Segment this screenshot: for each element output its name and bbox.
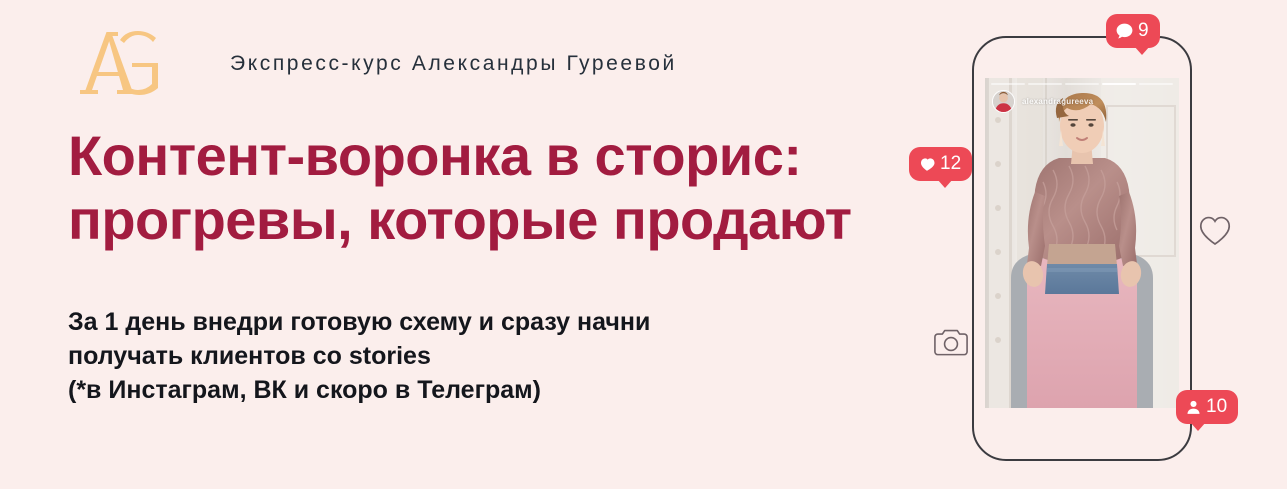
story-progress-segment	[1028, 83, 1062, 85]
course-kicker: Экспресс-курс Александры Гуреевой	[230, 52, 677, 76]
status-badge-followers: 10	[1176, 390, 1238, 424]
promo-banner: Экспресс-курс Александры Гуреевой Контен…	[0, 0, 1287, 489]
badge-count: 9	[1138, 21, 1149, 40]
story-progress-bars[interactable]	[991, 83, 1173, 85]
ag-monogram-icon	[70, 28, 162, 100]
story-progress-segment	[991, 83, 1025, 85]
subcopy-line-2: получать клиентов со stories	[68, 339, 868, 373]
page-title: Контент-воронка в сторис: прогревы, кото…	[68, 124, 968, 252]
comment-bubble-icon	[1115, 22, 1134, 41]
subcopy-line-3: (*в Инстаграм, ВК и скоро в Телеграм)	[68, 373, 868, 407]
story-progress-segment	[1102, 83, 1136, 85]
headline-line-1: Контент-воронка в сторис:	[68, 124, 968, 188]
badge-count: 10	[1206, 397, 1227, 416]
story-progress-segment	[1139, 83, 1173, 85]
headline-line-2: прогревы, которые продают	[68, 188, 968, 252]
badge-count: 12	[940, 154, 961, 173]
heart-filled-icon	[918, 155, 936, 173]
subheadline: За 1 день внедри готовую схему и сразу н…	[68, 305, 868, 407]
person-icon	[1185, 399, 1202, 416]
story-photo	[985, 78, 1179, 408]
banner-header: Экспресс-курс Александры Гуреевой	[70, 28, 677, 100]
avatar	[992, 90, 1015, 113]
status-badge-likes: 12	[909, 147, 972, 181]
story-screen[interactable]: alexandragureeva	[985, 78, 1179, 408]
heart-outline-icon	[1196, 214, 1234, 248]
story-username: alexandragureeva	[1022, 97, 1093, 106]
camera-outline-icon	[932, 326, 970, 359]
phone-mockup: alexandragureeva	[972, 36, 1192, 461]
story-user-row[interactable]: alexandragureeva	[992, 90, 1093, 113]
story-progress-segment	[1065, 83, 1099, 85]
subcopy-line-1: За 1 день внедри готовую схему и сразу н…	[68, 305, 868, 339]
status-badge-comments: 9	[1106, 14, 1160, 48]
